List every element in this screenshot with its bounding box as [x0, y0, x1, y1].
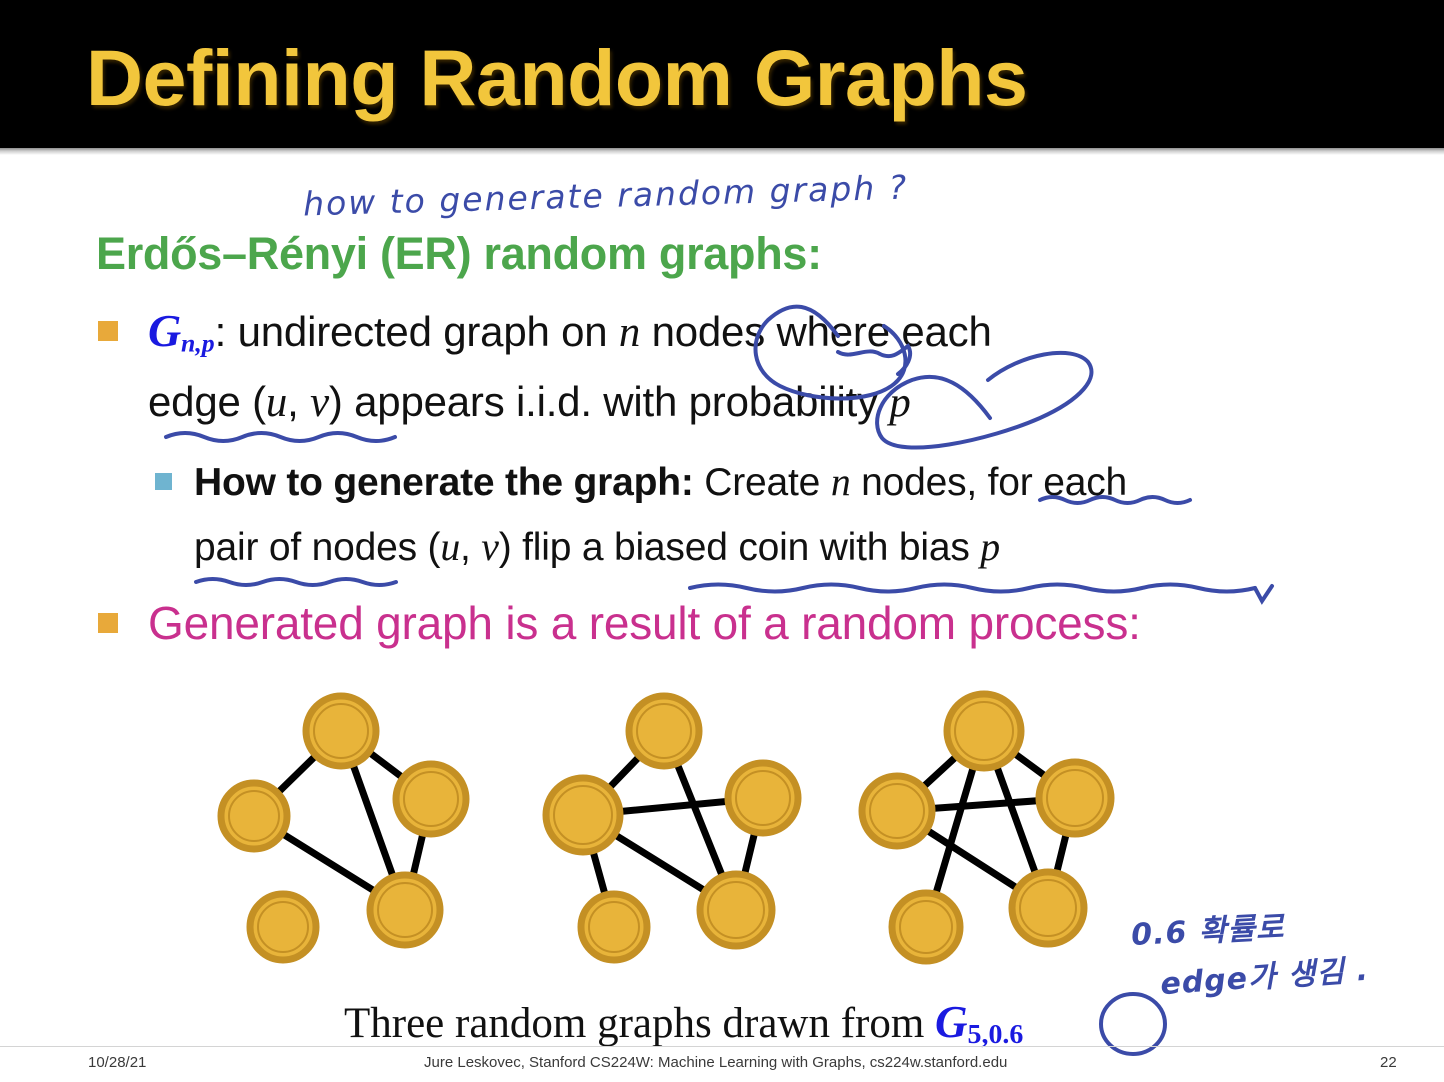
- random-graph-3: [862, 694, 1111, 961]
- graph-node: [396, 764, 466, 834]
- graph-node: [250, 894, 316, 960]
- graph-node: [629, 696, 699, 766]
- random-graph-2: [546, 696, 798, 960]
- ink-circle-around-0-6: [1101, 994, 1165, 1054]
- caption-text: Three random graphs drawn from: [344, 1000, 935, 1047]
- graph-node: [221, 783, 287, 849]
- figure-caption: Three random graphs drawn from G5,0.6: [344, 996, 1023, 1051]
- footer-attribution: Jure Leskovec, Stanford CS224W: Machine …: [424, 1054, 1007, 1071]
- handwritten-note-korean-1: 0.6 확률로: [1130, 902, 1285, 954]
- graph-node: [546, 778, 620, 852]
- graph-node: [581, 894, 647, 960]
- graph-node: [947, 694, 1021, 768]
- graph-node: [700, 874, 772, 946]
- graph-node: [892, 893, 960, 961]
- footer-page-number: 22: [1380, 1054, 1397, 1071]
- graph-node: [728, 763, 798, 833]
- slide-canvas: Defining Random Graphs Erdős–Rényi (ER) …: [0, 0, 1444, 1082]
- random-graph-figures: [0, 0, 1444, 1000]
- graph-node: [862, 776, 932, 846]
- random-graph-1: [221, 696, 466, 960]
- graph-node: [370, 875, 440, 945]
- caption-gnp-symbol: G5,0.6: [935, 997, 1023, 1047]
- graph-node: [1012, 872, 1084, 944]
- graph-node: [1039, 762, 1111, 834]
- footer-date: 10/28/21: [88, 1054, 146, 1071]
- graph-node: [306, 696, 376, 766]
- footer-divider: [0, 1046, 1444, 1047]
